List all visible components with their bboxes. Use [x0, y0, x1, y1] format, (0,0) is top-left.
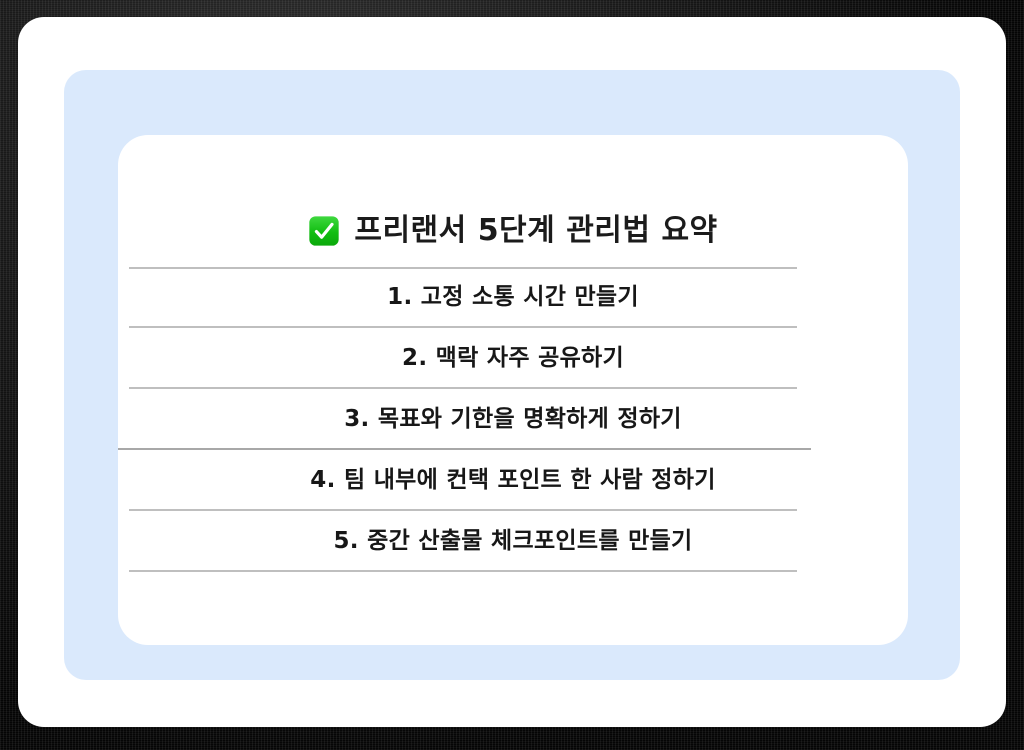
page-title: 프리랜서 5단계 관리법 요약 [118, 206, 908, 256]
screenshot-canvas: 프리랜서 5단계 관리법 요약 1. 고정 소통 시간 만들기 2. 맥락 자주… [0, 0, 1024, 750]
list-item-label: 4. 팀 내부에 컨택 포인트 한 사람 정하기 [310, 469, 715, 492]
row-divider [129, 267, 797, 269]
list-item-label: 2. 맥락 자주 공유하기 [402, 347, 624, 370]
list-item[interactable]: 3. 목표와 기한을 명확하게 정하기 [118, 389, 908, 450]
list-item[interactable]: 5. 중간 산출물 체크포인트를 만들기 [118, 511, 908, 572]
page-title-text: 프리랜서 5단계 관리법 요약 [354, 216, 717, 246]
row-divider [129, 570, 797, 572]
white-heavy-check-mark-icon [308, 215, 340, 247]
steps-list: 1. 고정 소통 시간 만들기 2. 맥락 자주 공유하기 3. 목표와 기한을… [118, 267, 908, 572]
list-item-label: 5. 중간 산출물 체크포인트를 만들기 [333, 530, 692, 553]
list-item[interactable]: 1. 고정 소통 시간 만들기 [118, 267, 908, 328]
blue-panel: 프리랜서 5단계 관리법 요약 1. 고정 소통 시간 만들기 2. 맥락 자주… [64, 70, 960, 680]
outer-card: 프리랜서 5단계 관리법 요약 1. 고정 소통 시간 만들기 2. 맥락 자주… [18, 17, 1006, 727]
list-item[interactable]: 2. 맥락 자주 공유하기 [118, 328, 908, 389]
content-card: 프리랜서 5단계 관리법 요약 1. 고정 소통 시간 만들기 2. 맥락 자주… [118, 135, 908, 645]
list-item[interactable]: 4. 팀 내부에 컨택 포인트 한 사람 정하기 [118, 450, 908, 511]
list-item-label: 1. 고정 소통 시간 만들기 [387, 286, 639, 309]
list-item-label: 3. 목표와 기한을 명확하게 정하기 [344, 408, 682, 431]
